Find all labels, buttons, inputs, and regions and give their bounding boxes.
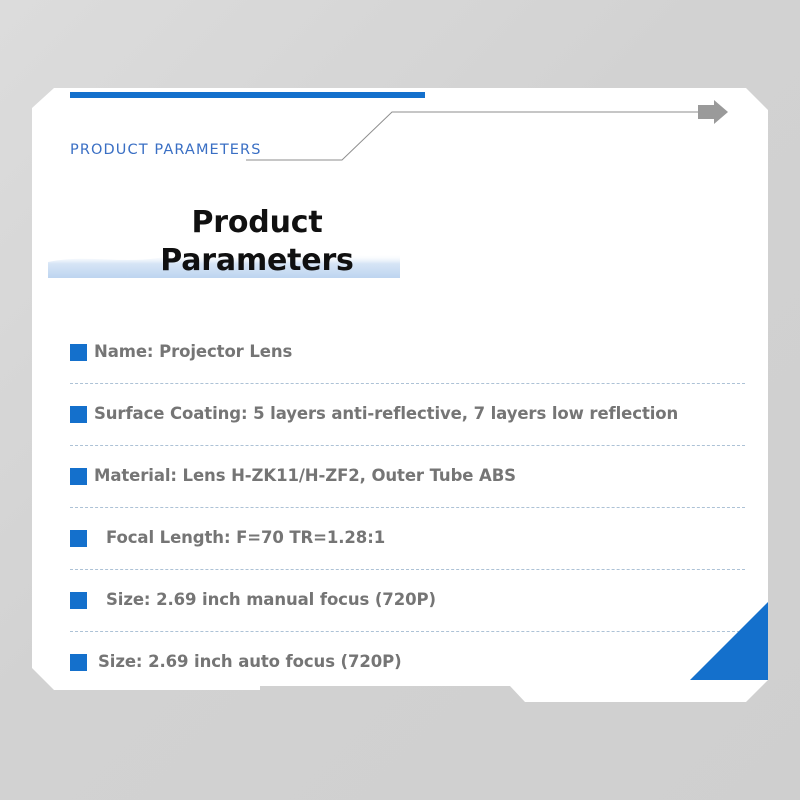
spec-label: Focal Length: F=70 TR=1.28:1 [106,520,385,556]
card-header: PRODUCT PARAMETERS [32,140,768,180]
spec-list: Name: Projector LensSurface Coating: 5 l… [32,322,768,694]
square-bullet-icon [70,530,87,547]
spec-label: Surface Coating: 5 layers anti-reflectiv… [94,396,678,432]
page-title: Product Parameters [32,204,768,294]
spec-row: Surface Coating: 5 layers anti-reflectiv… [32,384,768,446]
square-bullet-icon [70,592,87,609]
spec-row: Name: Projector Lens [32,322,768,384]
square-bullet-icon [70,406,87,423]
title-text: Product Parameters [32,204,482,280]
square-bullet-icon [70,654,87,671]
spec-label: Material: Lens H-ZK11/H-ZF2, Outer Tube … [94,458,516,494]
spec-row: Size: 2.69 inch auto focus (720P) [32,632,768,694]
arrow-right-icon [698,100,728,124]
spec-row: Size: 2.69 inch manual focus (720P) [32,570,768,632]
title-line-2: Parameters [32,242,482,280]
blue-corner-triangle [690,602,768,680]
spec-label: Size: 2.69 inch manual focus (720P) [106,582,436,618]
eyebrow-label: PRODUCT PARAMETERS [70,140,262,160]
spec-label: Size: 2.69 inch auto focus (720P) [98,644,402,680]
spec-label: Name: Projector Lens [94,334,292,370]
square-bullet-icon [70,468,87,485]
spec-row: Material: Lens H-ZK11/H-ZF2, Outer Tube … [32,446,768,508]
product-parameters-card: PRODUCT PARAMETERS Product Parameters [32,88,768,702]
spec-row: Focal Length: F=70 TR=1.28:1 [32,508,768,570]
square-bullet-icon [70,344,87,361]
title-line-1: Product [32,204,482,242]
header-connector-line [246,92,746,162]
